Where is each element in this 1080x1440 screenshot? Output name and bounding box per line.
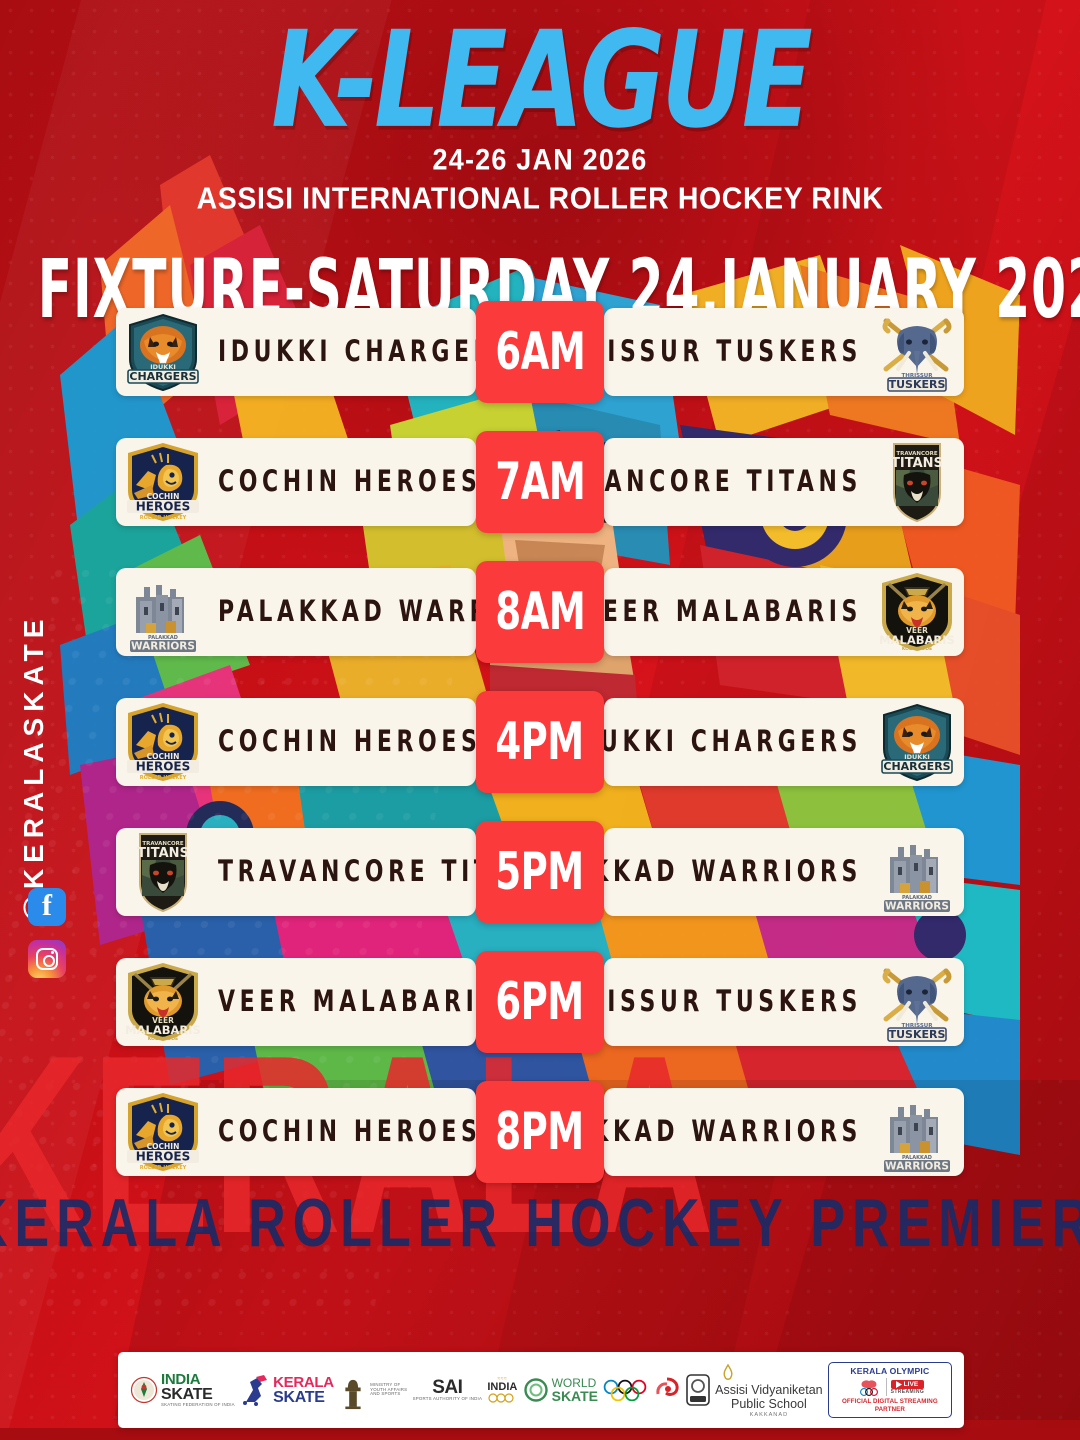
svg-text:WARRIORS: WARRIORS: [885, 1161, 949, 1173]
away-team-name: TRAVANCORE TITANS: [604, 465, 862, 498]
match-time: 7AM: [495, 452, 585, 511]
away-team-panel: PALAKKAD WARRIORS PALAKKAD WARRIORS: [604, 828, 964, 916]
match-row: PALAKKAD WARRIORS PALAKKAD WARRIORS8AMVE…: [116, 568, 964, 656]
instagram-icon[interactable]: [28, 940, 66, 978]
streaming-label: STREAMING: [891, 1389, 925, 1395]
svg-text:ROLLER HOCKEY: ROLLER HOCKEY: [140, 775, 187, 781]
svg-text:TITANS: TITANS: [891, 456, 943, 471]
cochin-heroes-crest: COCHIN HEROES ROLLER HOCKEY: [122, 1091, 204, 1173]
travancore-titans-crest: TRAVANCORE TITANS: [122, 831, 204, 913]
away-team-panel: IDUKKI CHARGERS IDUKKI CHARGERS: [604, 698, 964, 786]
home-team-name: VEER MALABARIS: [218, 985, 476, 1018]
palakkad-warriors-crest: PALAKKAD WARRIORS: [876, 831, 958, 913]
home-team-panel: VEER MALABARIS KOZHIKODE VEER MALABARIS: [116, 958, 476, 1046]
sai-text: SAI: [413, 1378, 483, 1397]
india-skate-subtitle: SKATING FEDERATION OF INDIA: [161, 1403, 235, 1407]
school-line1: Assisi Vidyaniketan: [715, 1383, 822, 1397]
sai-wordmark: SAI SPORTS AUTHORITY OF INDIA: [413, 1378, 483, 1401]
match-time: 8PM: [496, 1102, 584, 1161]
olympic-rings-icon: [603, 1379, 647, 1401]
sponsor-ministry-youth-affairs: MINISTRY OF YOUTH AFFAIRS AND SPORTS: [339, 1376, 407, 1404]
match-row: TRAVANCORE TITANS TRAVANCORE TITANS5PMPA…: [116, 828, 964, 916]
india-skate-line1: INDIA: [161, 1372, 235, 1387]
away-team-panel: THRISSUR TUSKERS THRISSUR TUSKERS: [604, 308, 964, 396]
away-team-panel: THRISSUR TUSKERS THRISSUR TUSKERS: [604, 958, 964, 1046]
event-dates: 24-26 JAN 2026: [0, 144, 1080, 177]
kerala-olympic-divider: [886, 1378, 887, 1396]
svg-text:WARRIORS: WARRIORS: [131, 641, 195, 653]
home-team-name: IDUKKI CHARGERS: [218, 335, 476, 368]
fixture-poster: KERALA KERALA ROLLER HOCKEY PREMIER LEAG…: [0, 0, 1080, 1440]
away-team-panel: VEER MALABARIS VEER MALABARIS KOZHIKODE: [604, 568, 964, 656]
sai-subtitle: SPORTS AUTHORITY OF INDIA: [413, 1397, 483, 1401]
away-team-panel: TRAVANCORE TITANS TRAVANCORE TITANS: [604, 438, 964, 526]
assisi-school-wordmark: Assisi Vidyaniketan Public School KAKKAN…: [715, 1363, 822, 1418]
sponsor-bar: INDIA SKATE SKATING FEDERATION OF INDIA …: [118, 1352, 964, 1428]
india-olympic-text: INDIA: [487, 1382, 517, 1393]
away-team-name: VEER MALABARIS: [604, 595, 862, 628]
match-time-box: 7AM: [476, 431, 604, 533]
away-team-name: PALAKKAD WARRIORS: [604, 855, 862, 888]
svg-text:ROLLER HOCKEY: ROLLER HOCKEY: [140, 515, 187, 521]
travancore-titans-crest: TRAVANCORE TITANS: [876, 441, 958, 523]
svg-text:HEROES: HEROES: [136, 500, 191, 514]
bottom-strip: [0, 1428, 1080, 1440]
svg-text:ROLLER HOCKEY: ROLLER HOCKEY: [140, 1165, 187, 1171]
fixture-list: IDUKKI CHARGERS IDUKKI CHARGERS6AMTHRISS…: [116, 308, 964, 1218]
red-swirl-logo-icon: [653, 1376, 681, 1404]
cochin-heroes-crest: COCHIN HEROES ROLLER HOCKEY: [122, 701, 204, 783]
social-handle: @KERALASKATE: [18, 598, 50, 938]
kerala-olympic-middle: LIVE STREAMING: [834, 1377, 946, 1397]
kerala-skate-line1: KERALA: [273, 1375, 334, 1390]
sponsor-assisi-school: Assisi Vidyaniketan Public School KAKKAN…: [715, 1363, 822, 1418]
svg-text:KOZHIKODE: KOZHIKODE: [902, 646, 932, 652]
school-line3: KAKKANAD: [715, 1412, 822, 1418]
home-team-name: TRAVANCORE TITANS: [218, 855, 476, 888]
home-team-name: PALAKKAD WARRIORS: [218, 595, 476, 628]
home-team-name: COCHIN HEROES: [218, 1115, 476, 1148]
india-olympic-wordmark: ≈≈≈ INDIA: [487, 1377, 517, 1403]
away-team-name: IDUKKI CHARGERS: [604, 725, 862, 758]
thrissur-tuskers-crest: THRISSUR TUSKERS: [876, 311, 958, 393]
match-row: VEER MALABARIS KOZHIKODE VEER MALABARIS6…: [116, 958, 964, 1046]
india-olympic-rings-icon: [487, 1393, 515, 1403]
sponsor-kerala-skate: KERALA SKATE: [240, 1374, 334, 1406]
india-skate-line2: SKATE: [161, 1387, 235, 1403]
world-skate-swirl-icon: [523, 1377, 549, 1403]
kerala-olympic-footer-line2: PARTNER: [834, 1406, 946, 1414]
svg-text:HEROES: HEROES: [136, 1150, 191, 1164]
svg-text:MALABARIS: MALABARIS: [125, 1023, 201, 1037]
match-time: 4PM: [496, 712, 584, 771]
play-icon: [895, 1381, 902, 1388]
away-team-name: PALAKKAD WARRIORS: [604, 1115, 862, 1148]
home-team-panel: COCHIN HEROES ROLLER HOCKEY COCHIN HEROE…: [116, 698, 476, 786]
svg-text:MALABARIS: MALABARIS: [879, 633, 955, 647]
facebook-glyph: f: [42, 891, 52, 921]
match-time: 6AM: [495, 322, 585, 381]
match-time-box: 5PM: [476, 821, 604, 923]
svg-text:TITANS: TITANS: [137, 846, 189, 861]
idukki-chargers-crest: IDUKKI CHARGERS: [876, 701, 958, 783]
kerala-olympic-title: KERALA OLYMPIC: [834, 1366, 946, 1376]
india-skate-wordmark: INDIA SKATE SKATING FEDERATION OF INDIA: [161, 1372, 235, 1407]
k-league-logo: K-LEAGUE: [0, 26, 1080, 135]
live-badge: LIVE: [891, 1380, 925, 1389]
ashoka-emblem-icon: [339, 1376, 367, 1404]
palakkad-warriors-crest: PALAKKAD WARRIORS: [876, 1091, 958, 1173]
school-line2: Public School: [715, 1397, 822, 1411]
sponsor-red-swirl: [653, 1376, 681, 1404]
kerala-skate-line2: SKATE: [273, 1390, 334, 1406]
match-row: COCHIN HEROES ROLLER HOCKEY COCHIN HEROE…: [116, 1088, 964, 1176]
match-time: 8AM: [495, 582, 585, 641]
svg-text:HEROES: HEROES: [136, 760, 191, 774]
home-team-panel: PALAKKAD WARRIORS PALAKKAD WARRIORS: [116, 568, 476, 656]
sponsor-world-skate-asia: [686, 1374, 710, 1406]
world-skate-asia-badge: [686, 1374, 710, 1406]
ministry-line3: AND SPORTS: [370, 1392, 407, 1396]
svg-text:TUSKERS: TUSKERS: [889, 378, 946, 391]
away-team-name: THRISSUR TUSKERS: [604, 985, 862, 1018]
instagram-glyph: [36, 948, 58, 970]
veer-malabaris-crest: VEER MALABARIS KOZHIKODE: [876, 571, 958, 653]
kerala-olympic-footer-line1: OFFICIAL DIGITAL STREAMING: [834, 1398, 946, 1406]
kerala-skate-wordmark: KERALA SKATE: [273, 1375, 334, 1406]
event-venue: ASSISI INTERNATIONAL ROLLER HOCKEY RINK: [0, 182, 1080, 218]
svg-text:CHARGERS: CHARGERS: [883, 760, 950, 773]
match-time-box: 6AM: [476, 301, 604, 403]
idukki-chargers-crest: IDUKKI CHARGERS: [122, 311, 204, 393]
match-row: IDUKKI CHARGERS IDUKKI CHARGERS6AMTHRISS…: [116, 308, 964, 396]
svg-text:TUSKERS: TUSKERS: [889, 1028, 946, 1041]
match-time: 5PM: [496, 842, 584, 901]
match-time-box: 4PM: [476, 691, 604, 793]
svg-text:KOZHIKODE: KOZHIKODE: [148, 1036, 178, 1042]
sponsor-india-skate: INDIA SKATE SKATING FEDERATION OF INDIA: [130, 1372, 235, 1407]
india-skate-emblem-icon: [130, 1376, 158, 1404]
social-rail: @KERALASKATE f: [6, 640, 68, 1040]
sponsor-sai: SAI SPORTS AUTHORITY OF INDIA: [413, 1378, 483, 1401]
home-team-name: COCHIN HEROES: [218, 725, 476, 758]
veer-malabaris-crest: VEER MALABARIS KOZHIKODE: [122, 961, 204, 1043]
match-time-box: 8PM: [476, 1081, 604, 1183]
sponsor-world-skate: WORLD SKATE: [523, 1377, 598, 1403]
home-team-panel: COCHIN HEROES ROLLER HOCKEY COCHIN HEROE…: [116, 1088, 476, 1176]
away-team-name: THRISSUR TUSKERS: [604, 335, 862, 368]
kerala-skate-skater-icon: [240, 1374, 270, 1406]
svg-text:WARRIORS: WARRIORS: [885, 901, 949, 913]
world-skate-wordmark: WORLD SKATE: [552, 1377, 598, 1403]
kerala-olympic-emblem-icon: [856, 1377, 882, 1397]
live-label: LIVE: [904, 1381, 919, 1388]
palakkad-warriors-crest: PALAKKAD WARRIORS: [122, 571, 204, 653]
home-team-panel: COCHIN HEROES ROLLER HOCKEY COCHIN HEROE…: [116, 438, 476, 526]
home-team-panel: IDUKKI CHARGERS IDUKKI CHARGERS: [116, 308, 476, 396]
sponsor-olympic-rings: [603, 1379, 647, 1401]
poster-header: K-LEAGUE 24-26 JAN 2026 ASSISI INTERNATI…: [0, 0, 1080, 305]
match-time-box: 6PM: [476, 951, 604, 1053]
world-skate-line2: SKATE: [552, 1389, 598, 1403]
match-row: COCHIN HEROES ROLLER HOCKEY COCHIN HEROE…: [116, 698, 964, 786]
assisi-school-flame-icon: [715, 1363, 741, 1383]
sponsor-kerala-olympic-streaming: KERALA OLYMPIC LIVE STREAMING OFFICIAL D…: [828, 1362, 952, 1418]
svg-text:CHARGERS: CHARGERS: [129, 370, 196, 383]
match-row: COCHIN HEROES ROLLER HOCKEY COCHIN HEROE…: [116, 438, 964, 526]
match-time: 6PM: [496, 972, 584, 1031]
match-time-box: 8AM: [476, 561, 604, 663]
away-team-panel: PALAKKAD WARRIORS PALAKKAD WARRIORS: [604, 1088, 964, 1176]
facebook-icon[interactable]: f: [28, 888, 66, 926]
home-team-name: COCHIN HEROES: [218, 465, 476, 498]
thrissur-tuskers-crest: THRISSUR TUSKERS: [876, 961, 958, 1043]
home-team-panel: TRAVANCORE TITANS TRAVANCORE TITANS: [116, 828, 476, 916]
cochin-heroes-crest: COCHIN HEROES ROLLER HOCKEY: [122, 441, 204, 523]
ministry-wordmark: MINISTRY OF YOUTH AFFAIRS AND SPORTS: [370, 1383, 407, 1396]
sponsor-india-olympic: ≈≈≈ INDIA: [487, 1377, 517, 1403]
